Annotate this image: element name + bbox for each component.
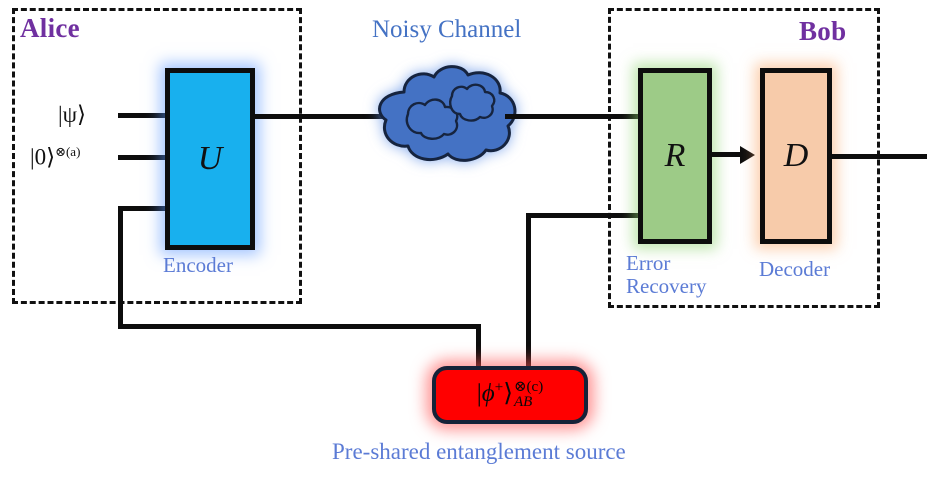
arrow-head-icon: [740, 146, 755, 164]
encoder-gate-letter: U: [198, 142, 223, 176]
encoder-gate[interactable]: U: [165, 68, 255, 250]
bob-label: Bob: [799, 18, 846, 45]
error-recovery-caption: Error Recovery: [626, 252, 746, 297]
entanglement-source-caption: Pre-shared entanglement source: [332, 440, 626, 465]
error-recovery-gate[interactable]: R: [638, 68, 712, 244]
ancilla-ket-exponent: ⊗(a): [55, 144, 80, 159]
entanglement-source-box[interactable]: |ϕ+⟩⊗(c)AB: [432, 366, 588, 424]
wire-ent-alice-to-source: [476, 324, 481, 372]
ancilla-ket-base: |0⟩: [30, 145, 55, 170]
cloud-icon: [368, 58, 528, 174]
source-indices: ⊗(c)AB: [514, 380, 543, 411]
wire-input-state: [118, 113, 168, 118]
wire-ent-alice-down: [118, 206, 123, 329]
input-ancilla-ket: |0⟩⊗(a): [30, 144, 80, 171]
phi-symbol: ϕ: [482, 380, 495, 407]
noisy-channel-label: Noisy Channel: [372, 16, 521, 44]
diagram-canvas: Alice Bob |ψ⟩ |0⟩⊗(a) U Encoder Noisy Ch…: [0, 0, 927, 478]
source-subscript: AB: [514, 395, 543, 410]
wire-encoder-ent-stub: [118, 206, 170, 211]
phi-plus-superscript: +: [495, 379, 503, 395]
wire-ent-alice-across: [118, 324, 481, 329]
wire-input-ancilla: [118, 155, 168, 160]
input-state-ket: |ψ⟩: [58, 102, 86, 128]
alice-label: Alice: [20, 15, 80, 42]
source-superscript: ⊗(c): [514, 380, 543, 395]
wire-ent-bob-down: [526, 213, 531, 372]
decoder-caption: Decoder: [759, 258, 830, 281]
ket-close-bracket: ⟩: [503, 380, 513, 407]
entanglement-source-state: |ϕ+⟩⊗(c)AB: [477, 380, 543, 411]
decoder-gate-letter: D: [784, 139, 809, 173]
wire-recovery-ent-stub: [526, 213, 641, 218]
recovery-gate-letter: R: [665, 139, 686, 173]
wire-channel-to-recovery: [505, 114, 641, 119]
decoder-gate[interactable]: D: [760, 68, 832, 244]
encoder-caption: Encoder: [163, 254, 233, 277]
wire-decoder-output: [830, 154, 927, 159]
